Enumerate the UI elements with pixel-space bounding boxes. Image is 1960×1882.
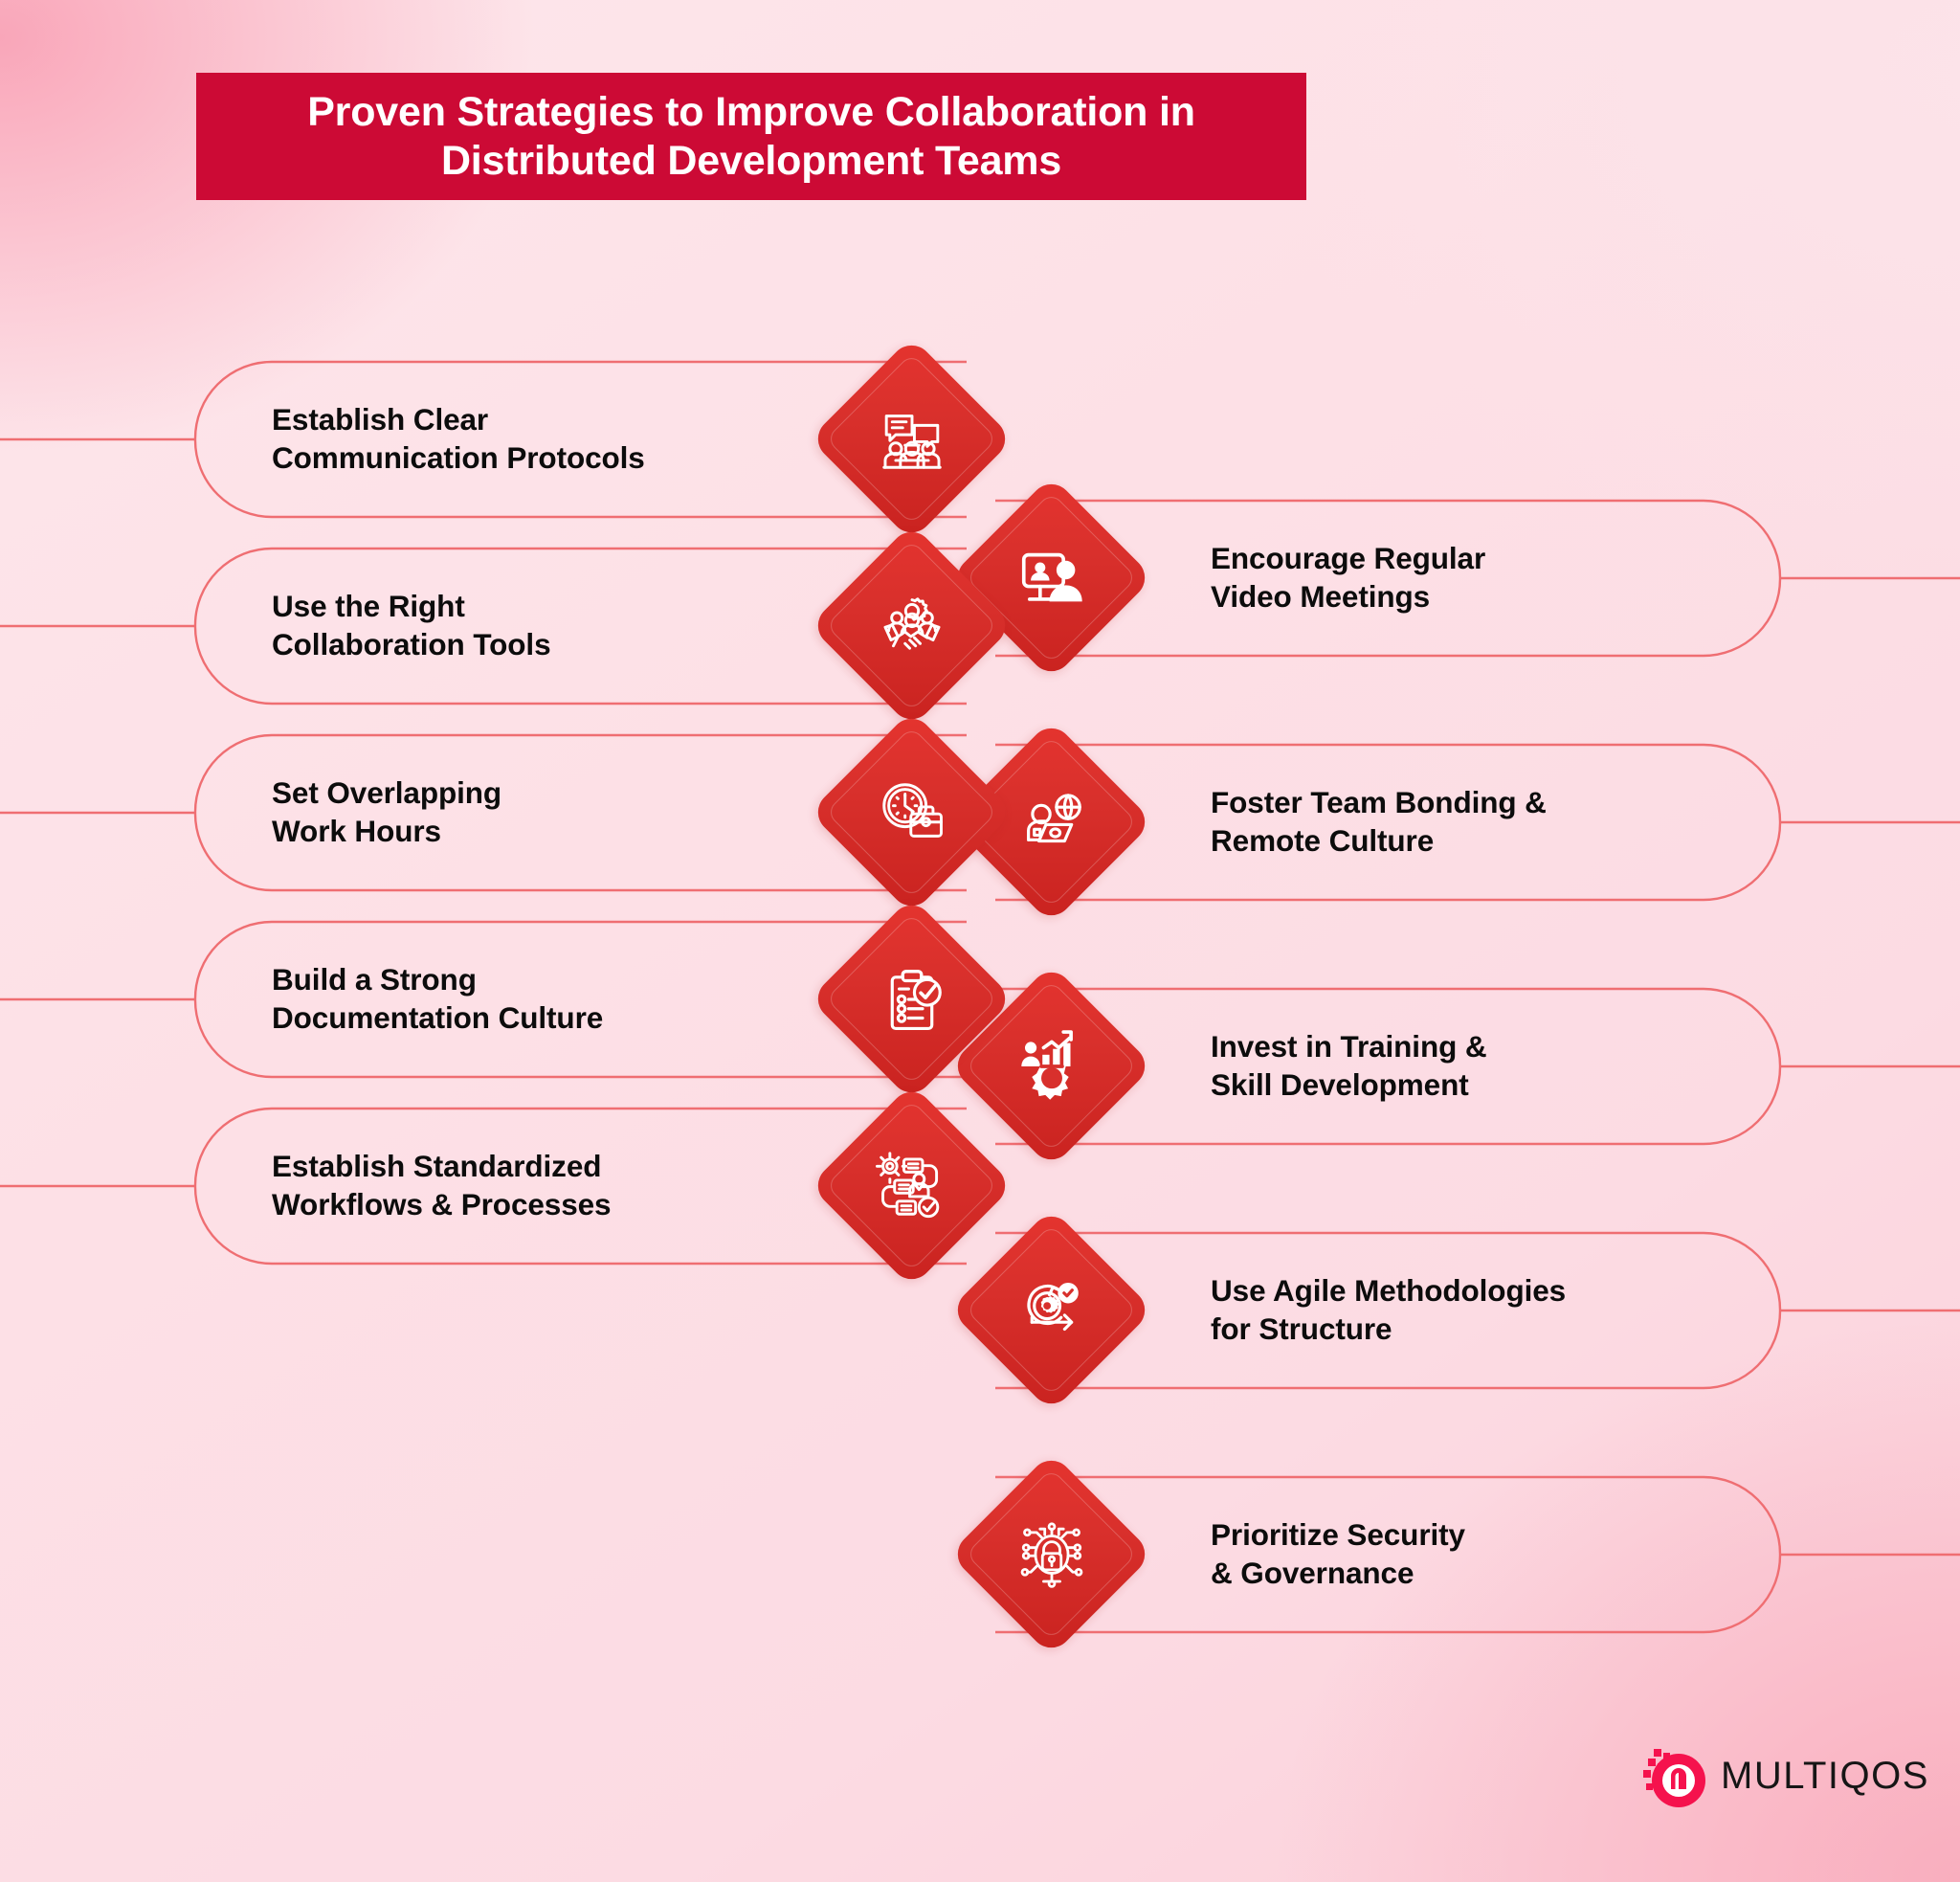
handshake-gear-team-icon	[839, 553, 984, 698]
item-1-label: Establish Clear Communication Protocols	[272, 401, 846, 477]
item-10-label: Prioritize Security & Governance	[1211, 1516, 1804, 1592]
item-9-label: Establish Standardized Workflows & Proce…	[272, 1148, 865, 1223]
item-3-label: Use the Right Collaboration Tools	[272, 588, 846, 663]
clipboard-checklist-icon	[839, 927, 984, 1071]
item-6-label: Invest in Training & Skill Development	[1211, 1028, 1804, 1104]
item-7-badge[interactable]	[810, 897, 1014, 1102]
multiqos-m-circle-logo	[1637, 1740, 1707, 1811]
item-2-label: Encourage Regular Video Meetings	[1211, 540, 1804, 616]
title-banner: Proven Strategies to Improve Collaborati…	[196, 73, 1306, 200]
agile-loop-gear-check-icon	[979, 1238, 1124, 1382]
item-10-badge[interactable]	[949, 1452, 1154, 1657]
multiqos-logo[interactable]: MULTIQOS	[1637, 1740, 1929, 1811]
circuit-lock-security-icon	[979, 1482, 1124, 1626]
item-3-badge[interactable]	[810, 524, 1014, 728]
item-9-badge[interactable]	[810, 1084, 1014, 1288]
item-5-label: Set Overlapping Work Hours	[272, 774, 846, 850]
item-5-badge[interactable]	[810, 710, 1014, 915]
infographic-canvas: Proven Strategies to Improve Collaborati…	[0, 0, 1960, 1882]
workflow-diagram-icon	[839, 1113, 984, 1258]
page-title: Proven Strategies to Improve Collaborati…	[223, 88, 1280, 185]
item-4-label: Foster Team Bonding & Remote Culture	[1211, 784, 1804, 860]
item-8-label: Use Agile Methodologies for Structure	[1211, 1272, 1804, 1348]
growth-chart-gear-person-icon	[979, 994, 1124, 1138]
multiqos-wordmark: MULTIQOS	[1721, 1755, 1929, 1798]
people-speech-bubbles-icon	[839, 367, 984, 511]
item-7-label: Build a Strong Documentation Culture	[272, 961, 846, 1037]
clock-briefcase-icon	[839, 740, 984, 885]
